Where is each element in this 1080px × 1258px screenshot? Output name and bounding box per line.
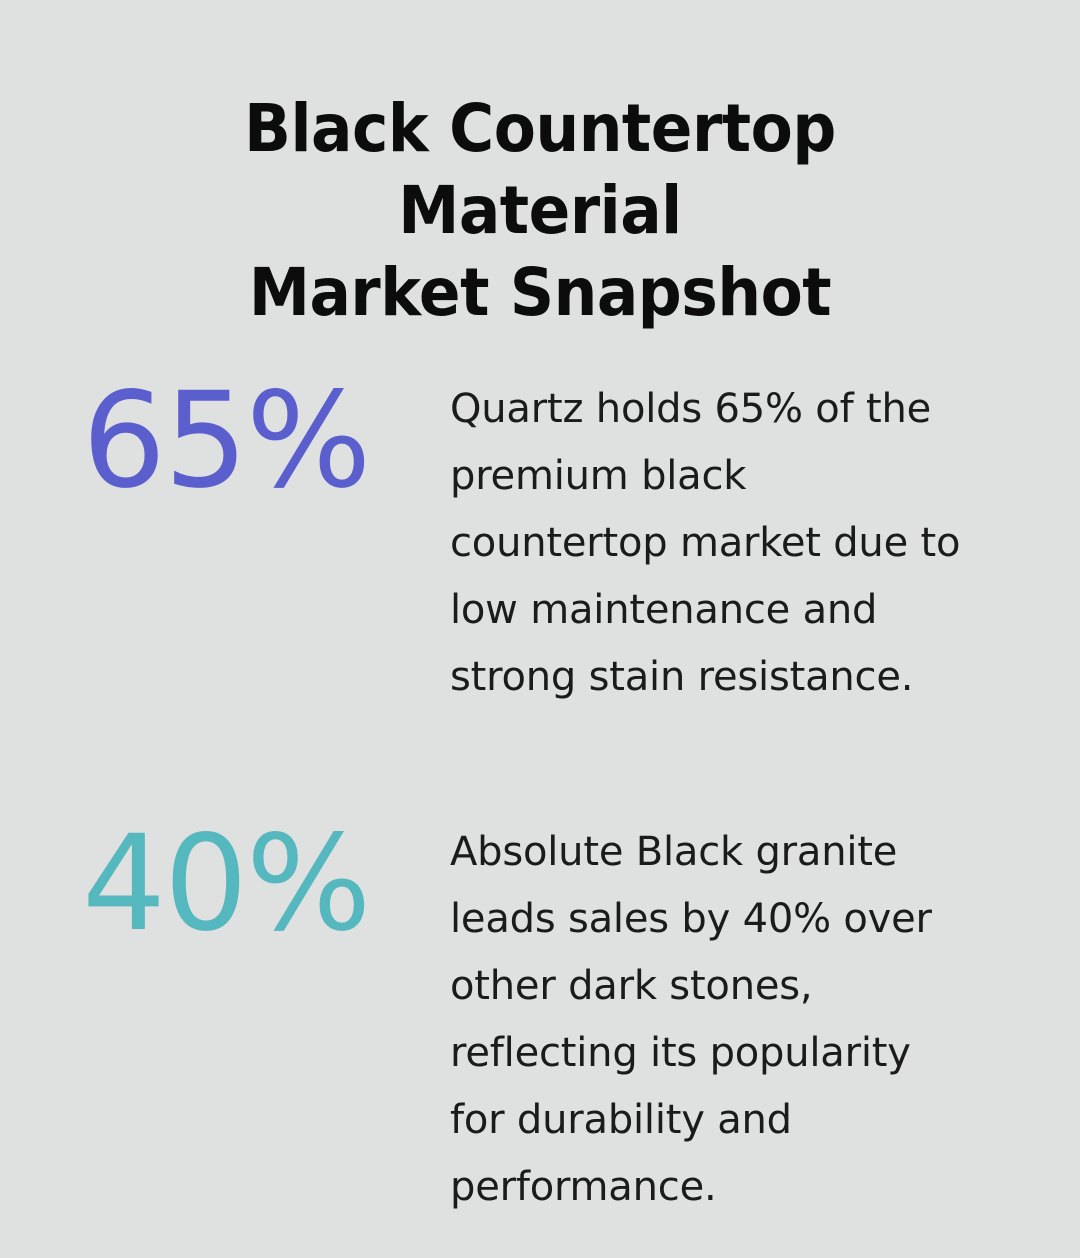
page-title-line-2: Market Snapshot: [94, 252, 987, 334]
stat-item-granite: 40% Absolute Black granite leads sales b…: [0, 811, 1080, 1221]
page-title-line-1: Black Countertop Material: [94, 88, 987, 252]
stat-list: 65% Quartz holds 65% of the premium blac…: [0, 368, 1080, 1221]
stat-description-granite: Absolute Black granite leads sales by 40…: [450, 811, 972, 1221]
stat-value-quartz: 65%: [70, 368, 450, 514]
stat-description-quartz: Quartz holds 65% of the premium black co…: [450, 368, 972, 711]
infographic-canvas: Black Countertop Material Market Snapsho…: [0, 0, 1080, 1258]
stat-value-granite: 40%: [70, 811, 450, 957]
page-title: Black Countertop Material Market Snapsho…: [60, 88, 1020, 334]
stat-item-quartz: 65% Quartz holds 65% of the premium blac…: [0, 368, 1080, 711]
